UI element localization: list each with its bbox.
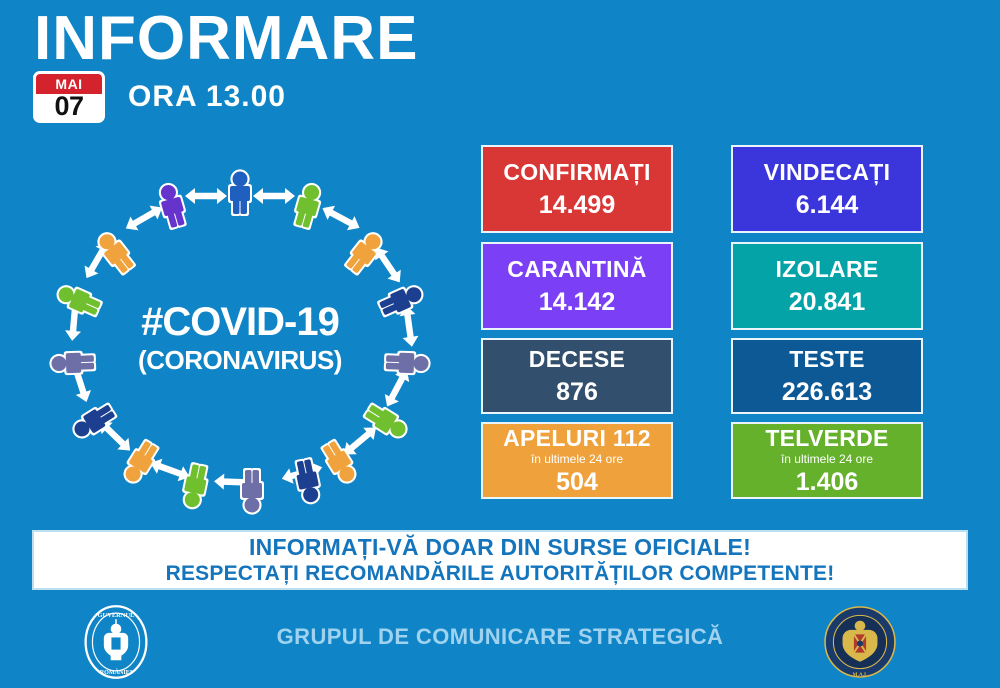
- stat-label-vindecati: VINDECAȚI: [764, 159, 891, 185]
- hour-label: ORA 13.00: [128, 80, 286, 114]
- calendar-icon: MAI 07: [33, 71, 105, 123]
- stat-value-carantina: 14.142: [539, 288, 615, 316]
- calendar-day-label: 07: [36, 94, 102, 120]
- stat-label-telverde: TELVERDE: [765, 425, 888, 451]
- stat-value-izolare: 20.841: [789, 288, 865, 316]
- stat-box-telverde: TELVERDE în ultimele 24 ore 1.406: [731, 422, 923, 499]
- svg-text:GUVERNUL: GUVERNUL: [98, 612, 136, 619]
- svg-text:M.A.I.: M.A.I.: [853, 672, 869, 678]
- stat-box-teste: TESTE 226.613: [731, 338, 923, 414]
- stat-label-teste: TESTE: [789, 346, 865, 372]
- footer: GUVERNUL ROMÂNIEI GRUPUL DE COMUNICARE S…: [0, 598, 1000, 688]
- stat-value-decese: 876: [556, 378, 598, 406]
- stat-label-izolare: IZOLARE: [775, 256, 878, 282]
- official-sources-notice: INFORMAȚI-VĂ DOAR DIN SURSE OFICIALE! RE…: [32, 530, 968, 590]
- stat-box-apeluri-112: APELURI 112 în ultimele 24 ore 504: [481, 422, 673, 499]
- stat-box-confirmati: CONFIRMAȚI 14.499: [481, 145, 673, 233]
- stat-box-carantina: CARANTINĂ 14.142: [481, 242, 673, 330]
- page-title: INFORMARE: [34, 4, 418, 74]
- stat-value-confirmati: 14.499: [539, 191, 615, 219]
- stat-label-decese: DECESE: [529, 346, 625, 372]
- stat-sub-apeluri-112: în ultimele 24 ore: [531, 452, 623, 466]
- notice-line-1: INFORMAȚI-VĂ DOAR DIN SURSE OFICIALE!: [249, 534, 751, 561]
- stat-label-carantina: CARANTINĂ: [507, 256, 646, 282]
- covid-distancing-graphic: #COVID-19 (CORONAVIRUS): [30, 160, 450, 520]
- notice-line-2: RESPECTAȚI RECOMANDĂRILE AUTORITĂȚILOR C…: [166, 561, 835, 586]
- stat-box-izolare: IZOLARE 20.841: [731, 242, 923, 330]
- stat-box-vindecati: VINDECAȚI 6.144: [731, 145, 923, 233]
- departamentul-situatii-urgenta-seal-icon: M.A.I.: [822, 604, 898, 680]
- stat-value-teste: 226.613: [782, 378, 872, 406]
- header: INFORMARE MAI 07 ORA 13.00: [0, 0, 1000, 140]
- stat-box-decese: DECESE 876: [481, 338, 673, 414]
- stat-value-telverde: 1.406: [796, 468, 859, 496]
- stat-label-confirmati: CONFIRMAȚI: [503, 159, 650, 185]
- stat-sub-telverde: în ultimele 24 ore: [781, 452, 873, 466]
- stat-label-apeluri-112: APELURI 112: [503, 425, 651, 451]
- people-distancing-circle-icon: [30, 160, 450, 520]
- stat-value-vindecati: 6.144: [796, 191, 859, 219]
- stat-value-apeluri-112: 504: [556, 468, 598, 496]
- statistics-grid: CONFIRMAȚI 14.499 VINDECAȚI 6.144 CARANT…: [481, 145, 926, 516]
